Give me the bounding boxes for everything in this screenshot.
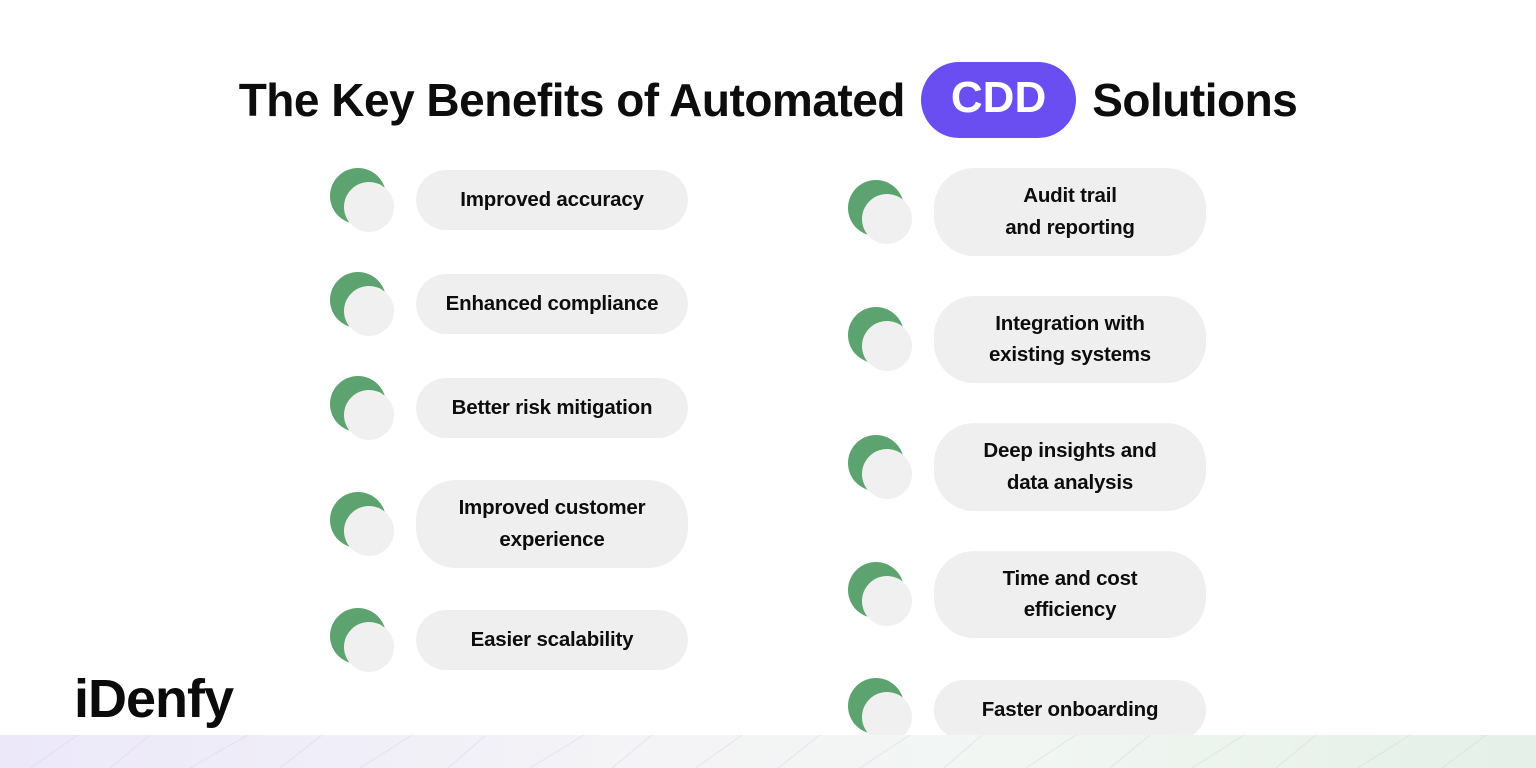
benefit-pill: Improved customer experience — [416, 480, 688, 568]
benefits-column-right: Audit trail and reporting Integration wi… — [848, 168, 1206, 742]
icon-gray-disc — [344, 622, 394, 672]
benefit-label-line: Deep insights and — [983, 439, 1156, 462]
benefit-label-line: experience — [499, 528, 604, 551]
benefit-pill: Easier scalability — [416, 610, 688, 670]
benefit-label: Improved accuracy — [460, 184, 643, 216]
icon-gray-disc — [862, 194, 912, 244]
list-item: Audit trail and reporting — [848, 168, 1206, 256]
icon-gray-disc — [344, 390, 394, 440]
benefit-label: Audit trail and reporting — [1005, 180, 1135, 244]
benefit-label-line: Integration with — [995, 312, 1144, 335]
icon-gray-disc — [344, 286, 394, 336]
list-item: Time and cost efficiency — [848, 551, 1206, 639]
benefit-label: Better risk mitigation — [452, 392, 653, 424]
list-item: Enhanced compliance — [330, 272, 688, 336]
title-badge-cdd: CDD — [921, 62, 1076, 138]
split-circle-icon — [330, 608, 394, 672]
bottom-decorative-strip — [0, 735, 1536, 768]
benefit-pill: Better risk mitigation — [416, 378, 688, 438]
split-circle-icon — [330, 272, 394, 336]
benefit-label: Enhanced compliance — [446, 288, 659, 320]
benefit-label-line: data analysis — [1007, 471, 1133, 494]
list-item: Deep insights and data analysis — [848, 423, 1206, 511]
split-circle-icon — [330, 492, 394, 556]
split-circle-icon — [848, 678, 912, 742]
list-item: Improved accuracy — [330, 168, 688, 232]
title-prefix: The Key Benefits of Automated — [239, 77, 905, 123]
benefit-label-line: efficiency — [1024, 598, 1117, 621]
benefit-label: Deep insights and data analysis — [983, 435, 1156, 499]
icon-gray-disc — [344, 182, 394, 232]
list-item: Improved customer experience — [330, 480, 688, 568]
title-suffix: Solutions — [1092, 77, 1297, 123]
benefit-label: Integration with existing systems — [989, 308, 1151, 372]
idenfy-logo: iDenfy — [74, 672, 233, 726]
split-circle-icon — [848, 562, 912, 626]
benefit-pill: Audit trail and reporting — [934, 168, 1206, 256]
split-circle-icon — [848, 435, 912, 499]
split-circle-icon — [330, 168, 394, 232]
benefit-pill: Time and cost efficiency — [934, 551, 1206, 639]
strip-pattern-icon — [0, 735, 1536, 768]
page-title: The Key Benefits of Automated CDD Soluti… — [0, 62, 1536, 138]
benefit-label-line: Audit trail — [1023, 184, 1116, 207]
list-item: Easier scalability — [330, 608, 688, 672]
list-item: Faster onboarding — [848, 678, 1206, 742]
icon-gray-disc — [862, 449, 912, 499]
benefit-pill: Faster onboarding — [934, 680, 1206, 740]
benefits-column-left: Improved accuracy Enhanced compliance — [330, 168, 688, 742]
benefit-label-line: Improved customer — [459, 496, 646, 519]
benefit-label-line: and reporting — [1005, 216, 1135, 239]
benefit-pill: Deep insights and data analysis — [934, 423, 1206, 511]
list-item: Integration with existing systems — [848, 296, 1206, 384]
benefit-pill: Enhanced compliance — [416, 274, 688, 334]
benefit-label: Time and cost efficiency — [1003, 563, 1138, 627]
split-circle-icon — [330, 376, 394, 440]
icon-gray-disc — [344, 506, 394, 556]
infographic-canvas: The Key Benefits of Automated CDD Soluti… — [0, 0, 1536, 768]
benefit-pill: Improved accuracy — [416, 170, 688, 230]
icon-gray-disc — [862, 321, 912, 371]
list-item: Better risk mitigation — [330, 376, 688, 440]
benefits-grid: Improved accuracy Enhanced compliance — [0, 168, 1536, 742]
benefit-label: Faster onboarding — [982, 694, 1159, 726]
icon-gray-disc — [862, 576, 912, 626]
benefit-pill: Integration with existing systems — [934, 296, 1206, 384]
split-circle-icon — [848, 180, 912, 244]
split-circle-icon — [848, 307, 912, 371]
benefit-label: Improved customer experience — [459, 492, 646, 556]
benefit-label-line: Time and cost — [1003, 567, 1138, 590]
benefit-label: Easier scalability — [471, 624, 634, 656]
benefit-label-line: existing systems — [989, 343, 1151, 366]
